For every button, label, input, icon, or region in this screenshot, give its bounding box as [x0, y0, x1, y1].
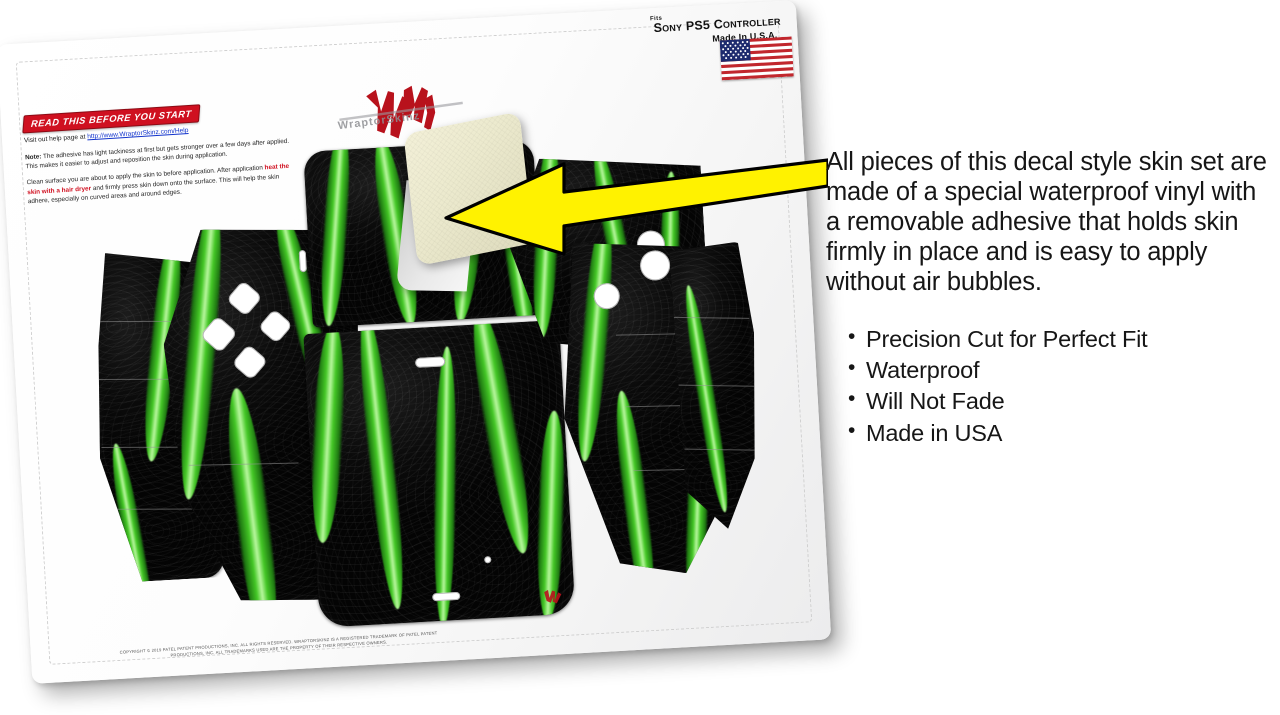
- help-prefix: Visit out help page at: [24, 133, 88, 144]
- note-label: Note:: [25, 153, 42, 161]
- instructions-panel: READ THIS BEFORE YOU START Visit out hel…: [22, 98, 295, 207]
- share-button-cutout: [299, 250, 307, 272]
- feature-bullet: Waterproof: [848, 355, 1272, 386]
- decal-piece-front-body: [303, 320, 575, 628]
- feature-bullet-list: Precision Cut for Perfect Fit Waterproof…: [848, 324, 1272, 449]
- marketing-copy: All pieces of this decal style skin set …: [826, 148, 1272, 449]
- feature-bullet: Made in USA: [848, 418, 1272, 449]
- feature-bullet: Will Not Fade: [848, 386, 1272, 417]
- product-image-canvas: Fits Sony PS5 Controller Made In U.S.A.: [0, 0, 1280, 715]
- feature-bullet: Precision Cut for Perfect Fit: [848, 324, 1272, 355]
- logo-watermark-icon: [540, 588, 565, 605]
- help-url-link[interactable]: http://www.WraptorSkinz.com/Help: [87, 127, 189, 140]
- skin-sheet: Fits Sony PS5 Controller Made In U.S.A.: [0, 0, 831, 684]
- usb-port-cutout: [415, 356, 446, 368]
- yellow-left-arrow-icon: [436, 150, 828, 262]
- headphone-jack-cutout: [432, 592, 460, 602]
- us-flag-icon: [720, 36, 794, 80]
- callout-paragraph: All pieces of this decal style skin set …: [826, 148, 1272, 298]
